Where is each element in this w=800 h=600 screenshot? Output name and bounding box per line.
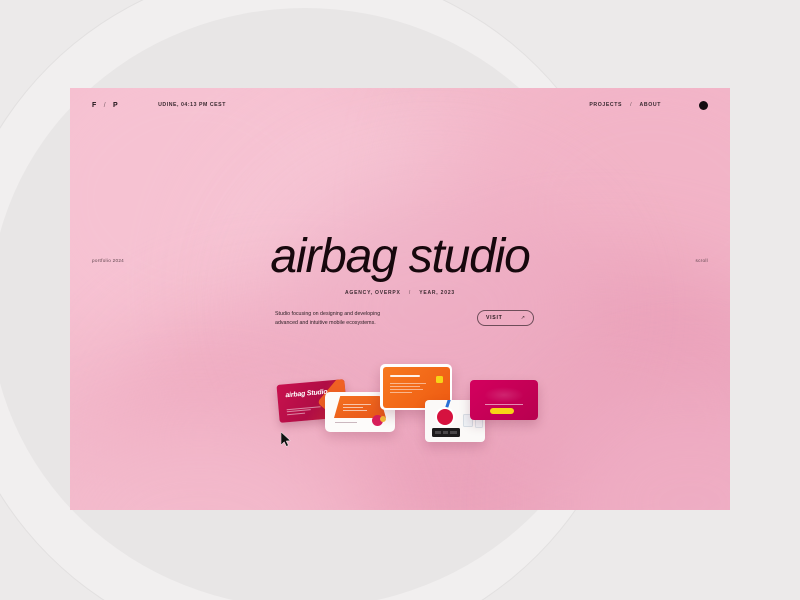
location-time-label: UDINE, 04:13 PM CEST <box>158 102 226 108</box>
card-glow-shape <box>484 387 524 403</box>
mockup-magenta-card[interactable] <box>470 380 538 420</box>
nav-separator: / <box>630 102 631 108</box>
box-circle-accent-yellow <box>380 416 386 422</box>
nav-item-about[interactable]: ABOUT <box>640 102 661 108</box>
scroll-hint-label: scroll <box>695 258 708 263</box>
box-line <box>343 407 363 408</box>
mockup-card-lines <box>287 405 328 416</box>
website-frame: F / P UDINE, 04:13 PM CEST PROJECTS / AB… <box>70 88 730 510</box>
tablet-body-line <box>390 392 412 393</box>
tablet-heading-line <box>390 375 420 377</box>
tablet-body-line <box>390 386 420 387</box>
logo-letter-right: P <box>113 102 118 109</box>
hero-description: Studio focusing on designing and develop… <box>275 310 395 329</box>
card-caption-line <box>485 404 523 405</box>
tablet-accent-square <box>436 376 443 383</box>
menu-dot-icon[interactable] <box>699 101 708 110</box>
page-title: airbag studio <box>70 229 730 284</box>
card-cta-button[interactable] <box>490 408 514 414</box>
portfolio-year-label: portfolio 2024 <box>92 258 124 263</box>
visit-button[interactable]: VISIT ↗ <box>477 310 534 326</box>
top-navigation-bar: F / P UDINE, 04:13 PM CEST PROJECTS / AB… <box>70 88 730 122</box>
box-caption-line <box>335 422 357 423</box>
main-nav: PROJECTS / ABOUT <box>589 101 708 110</box>
box-line <box>343 410 367 411</box>
project-mockup-cluster: airbag Studio <box>70 360 730 470</box>
site-logo[interactable]: F / P <box>92 102 118 109</box>
device-pen-shape <box>445 400 452 408</box>
box-line <box>343 404 371 405</box>
mouse-pointer-icon <box>281 432 292 447</box>
nav-item-projects[interactable]: PROJECTS <box>589 102 622 108</box>
device-strip <box>432 428 460 437</box>
arrow-up-right-icon: ↗ <box>521 315 525 321</box>
meta-separator: / <box>409 290 411 296</box>
meta-year: YEAR, 2023 <box>419 290 455 296</box>
tablet-body-line <box>390 383 426 384</box>
logo-separator: / <box>104 102 106 109</box>
hero-meta: AGENCY, OVERPX / YEAR, 2023 <box>70 290 730 296</box>
meta-agency: AGENCY, OVERPX <box>345 290 401 296</box>
device-lens-circle <box>437 409 453 425</box>
visit-button-label: VISIT <box>486 315 502 321</box>
tablet-body-line <box>390 389 423 390</box>
logo-letter-left: F <box>92 102 97 109</box>
